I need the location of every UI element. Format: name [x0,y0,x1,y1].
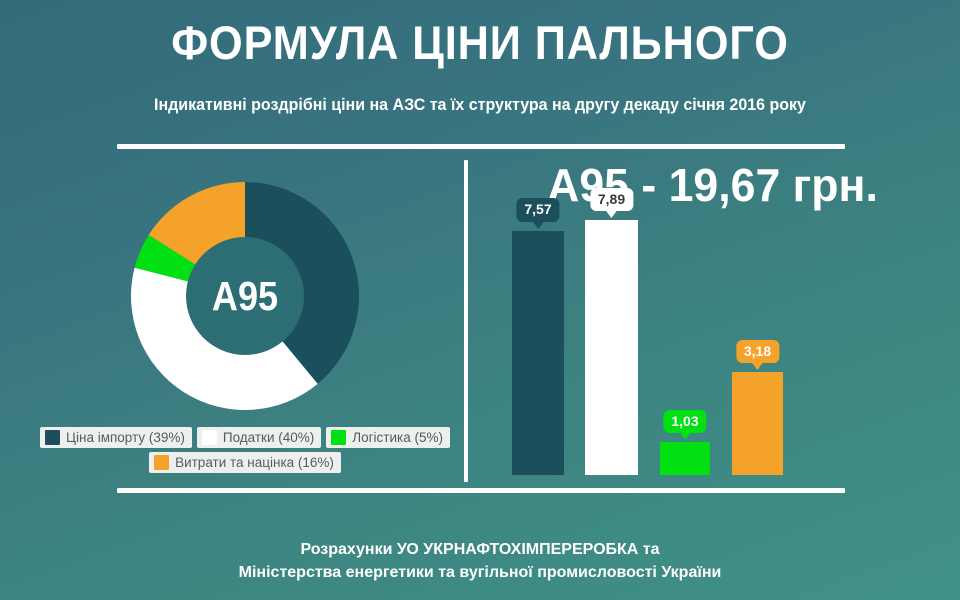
page-title: ФОРМУЛА ЦІНИ ПАЛЬНОГО [38,15,921,70]
legend-item: Ціна імпорту (39%) [40,427,192,448]
bar: 3,18 [732,372,783,475]
bar-value-label: 3,18 [736,340,779,363]
bar-value-label: 1,03 [663,410,706,433]
legend-item-label: Логістика (5%) [352,430,443,445]
donut-chart: A95 [131,182,359,410]
legend-row: Ціна імпорту (39%)Податки (40%)Логістика… [30,427,460,448]
legend-swatch-icon [202,430,217,445]
donut-chart-svg [131,182,359,410]
bar-value-label: 7,89 [590,188,633,211]
legend: Ціна імпорту (39%)Податки (40%)Логістика… [30,427,460,477]
bar-rect [732,372,783,475]
header: ФОРМУЛА ЦІНИ ПАЛЬНОГО Індикативні роздрі… [0,0,960,115]
legend-item: Податки (40%) [197,427,321,448]
legend-swatch-icon [331,430,346,445]
bar-value-text: 7,57 [524,201,551,217]
page-subtitle: Індикативні роздрібні ціни на АЗС та їх … [14,96,945,115]
donut-hole [186,237,304,355]
legend-item-label: Ціна імпорту (39%) [66,430,185,445]
bar: 1,03 [660,442,710,475]
legend-item: Витрати та націнка (16%) [149,452,341,473]
bar-rect [660,442,710,475]
legend-item-label: Витрати та націнка (16%) [175,455,334,470]
bar: 7,89 [585,220,638,475]
bar-value-label: 7,57 [516,198,559,221]
bar-chart: 7,577,891,033,18 [465,150,960,490]
bar-rect [512,231,564,475]
legend-item-label: Податки (40%) [223,430,314,445]
legend-item: Логістика (5%) [326,427,450,448]
bar: 7,57 [512,231,564,475]
footer-line-2: Міністерства енергетики та вугільної про… [0,561,960,584]
bar-rect [585,220,638,475]
bar-value-text: 3,18 [744,343,771,359]
bar-value-text: 1,03 [671,413,698,429]
footer-line-1: Розрахунки УО УКРНАФТОХІМПЕРЕРОБКА та [0,538,960,561]
legend-row: Витрати та націнка (16%) [30,452,460,473]
legend-swatch-icon [154,455,169,470]
bar-value-text: 7,89 [598,191,625,207]
legend-swatch-icon [45,430,60,445]
footer: Розрахунки УО УКРНАФТОХІМПЕРЕРОБКА та Мі… [0,538,960,584]
divider-top [117,144,845,149]
